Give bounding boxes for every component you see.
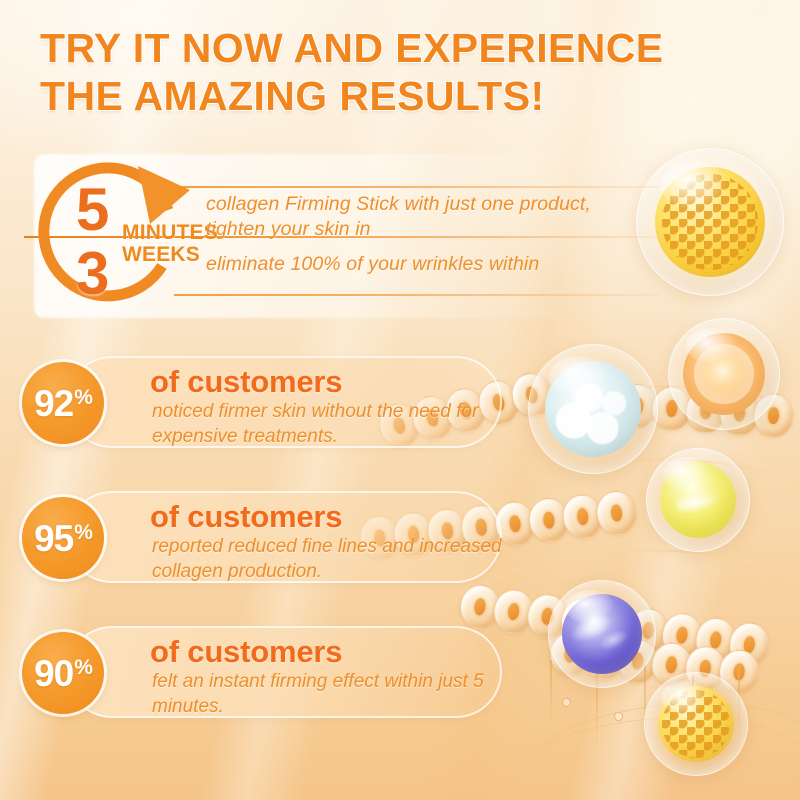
time-value-minutes: 5 bbox=[76, 180, 108, 240]
violet-sphere bbox=[548, 580, 656, 688]
time-claim-text-1: collagen Firming Stick with just one pro… bbox=[206, 192, 636, 242]
page-title: TRY IT NOW AND EXPERIENCE THE AMAZING RE… bbox=[40, 24, 760, 121]
stat-body-95: reported reduced fine lines and increase… bbox=[152, 535, 502, 584]
time-claims-panel: 5 MINUTES 3 WEEKS collagen Firming Stick… bbox=[24, 148, 664, 324]
divider-bottom bbox=[174, 294, 660, 296]
headline-line-1: TRY IT NOW AND EXPERIENCE bbox=[40, 25, 664, 71]
stat-body-90: felt an instant firming effect within ju… bbox=[152, 670, 502, 719]
percent-symbol: % bbox=[74, 522, 92, 543]
stat-card-90: 90 % of customers felt an instant firmin… bbox=[22, 626, 502, 718]
honeycomb-sphere-bottom bbox=[644, 672, 748, 776]
stat-value-95: 95 bbox=[34, 520, 73, 557]
time-unit-weeks: WEEKS bbox=[122, 244, 200, 265]
percent-symbol: % bbox=[74, 657, 92, 678]
stat-badge-95: 95 % bbox=[22, 497, 104, 579]
aqua-bubble-sphere bbox=[528, 344, 658, 474]
stat-heading-92: of customers bbox=[150, 364, 342, 400]
time-value-weeks: 3 bbox=[76, 244, 108, 304]
poster-canvas: TRY IT NOW AND EXPERIENCE THE AMAZING RE… bbox=[0, 0, 800, 800]
amber-sphere bbox=[668, 318, 780, 430]
stat-value-90: 90 bbox=[34, 655, 73, 692]
stat-heading-90: of customers bbox=[150, 634, 342, 670]
time-claim-text-2: eliminate 100% of your wrinkles within bbox=[206, 252, 646, 277]
stat-card-92: 92 % of customers noticed firmer skin wi… bbox=[22, 356, 502, 448]
stat-heading-95: of customers bbox=[150, 499, 342, 535]
stat-badge-92: 92 % bbox=[22, 362, 104, 444]
stat-body-92: noticed firmer skin without the need for… bbox=[152, 400, 502, 449]
stat-value-92: 92 bbox=[34, 385, 73, 422]
percent-symbol: % bbox=[74, 387, 92, 408]
divider-top bbox=[174, 186, 660, 188]
stat-badge-90: 90 % bbox=[22, 632, 104, 714]
stat-card-95: 95 % of customers reported reduced fine … bbox=[22, 491, 502, 583]
headline-line-2: THE AMAZING RESULTS! bbox=[40, 72, 760, 120]
oil-drop-sphere bbox=[646, 448, 750, 552]
time-unit-minutes: MINUTES bbox=[122, 222, 218, 243]
